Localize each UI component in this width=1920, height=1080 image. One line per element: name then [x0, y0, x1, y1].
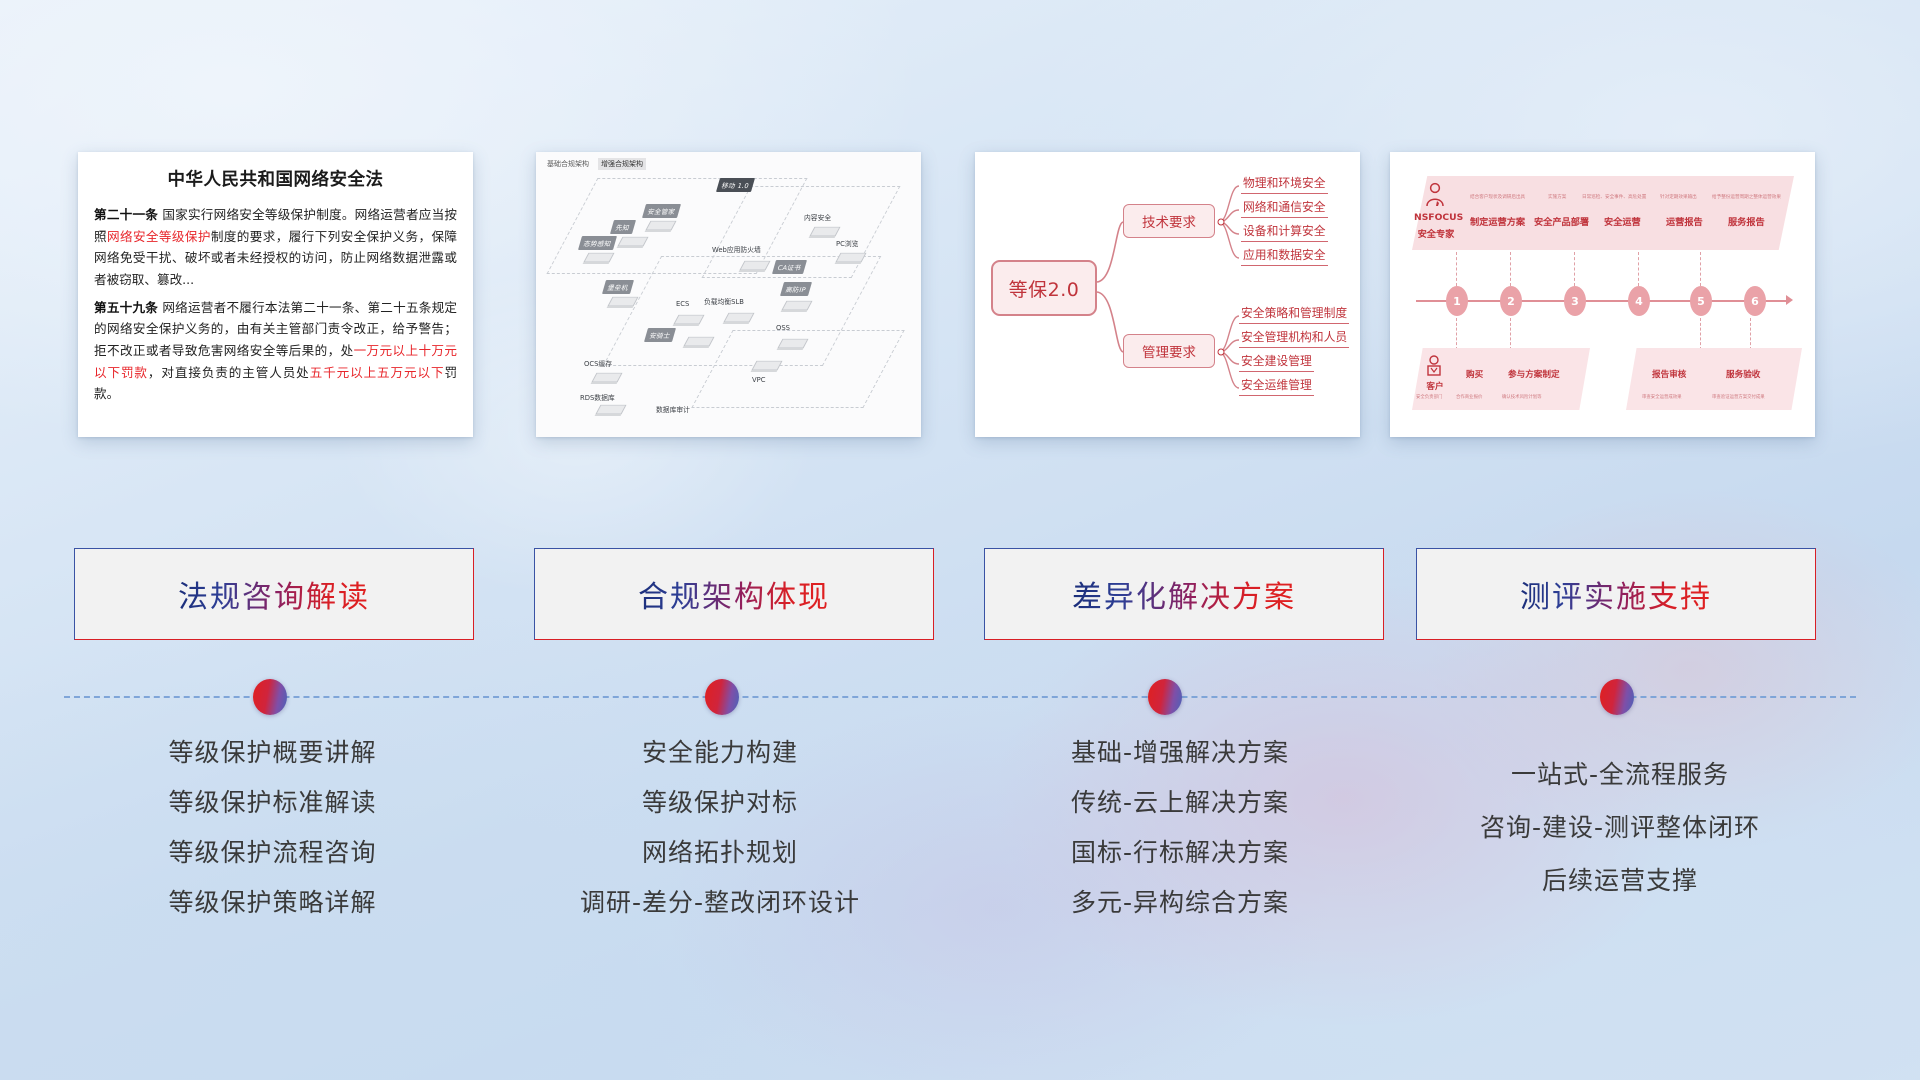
nsfocus-expert-banner	[1412, 176, 1794, 250]
mindmap-branch-management: 管理要求	[1123, 334, 1215, 368]
bottom-left-2-name: 参与方案制定	[1508, 368, 1560, 380]
step-5-name: 服务报告	[1728, 214, 1765, 228]
tick-1	[1456, 252, 1457, 286]
feature-list-column-2: 安全能力构建 等级保护对标 网络拓扑规划 调研-差分-整改闭环设计	[510, 740, 930, 940]
architecture-icon-bastion	[608, 297, 639, 306]
tick-4	[1638, 252, 1639, 286]
card-cybersecurity-law[interactable]: 中华人民共和国网络安全法 第二十一条 国家实行网络安全等级保护制度。网络运营者应…	[78, 152, 473, 437]
customer-sub: 安全负责部门	[1416, 394, 1442, 400]
architecture-node-bastion: 堡垒机	[602, 280, 634, 294]
timeline-node-4[interactable]: 4	[1628, 286, 1650, 316]
timeline-dashed-line	[64, 696, 1856, 698]
list-item: 咨询-建设-测评整体闭环	[1400, 815, 1840, 840]
architecture-icon-ecs	[674, 315, 705, 324]
architecture-node-mobile: 移动 1.0	[716, 178, 755, 192]
mindmap-leaf-device-compute: 设备和计算安全	[1241, 222, 1328, 242]
step-4-sub: 针对定期效果输出	[1660, 194, 1697, 200]
architecture-icon-vpc	[752, 361, 783, 370]
step-2-name: 安全产品部署	[1534, 214, 1589, 228]
step-2-sub: 实施方案	[1548, 194, 1566, 200]
feature-list-column-4: 一站式-全流程服务 咨询-建设-测评整体闭环 后续运营支撑	[1400, 762, 1840, 921]
timeline-axis	[1416, 300, 1788, 302]
expert-person-icon	[1424, 182, 1446, 208]
law-article-21-label: 第二十一条	[94, 207, 158, 222]
list-item: 等级保护标准解读	[70, 790, 475, 815]
list-item: 一站式-全流程服务	[1400, 762, 1840, 787]
title-label-1: 法规咨询解读	[178, 572, 370, 616]
architecture-icon-slb	[724, 313, 755, 322]
list-item: 等级保护概要讲解	[70, 740, 475, 765]
architecture-node-ca: CA证书	[772, 260, 807, 274]
architecture-node-xianzhi: 先知	[610, 220, 636, 234]
mindmap-leaf-app-data: 应用和数据安全	[1241, 246, 1328, 266]
law-title: 中华人民共和国网络安全法	[94, 166, 457, 191]
timeline-node-5[interactable]: 5	[1690, 286, 1712, 316]
timeline-node-3[interactable]: 3	[1564, 286, 1586, 316]
law-article-59-text-b: ，对直接负责的主管人员处	[148, 365, 310, 380]
timeline-marker-1[interactable]	[253, 679, 287, 715]
title-box-compliance-architecture[interactable]: 合规架构体现	[534, 548, 934, 640]
tick-3	[1574, 252, 1575, 286]
tick-2	[1510, 252, 1511, 286]
list-item: 后续运营支撑	[1400, 868, 1840, 893]
architecture-node-ocs: OCS缓存	[584, 358, 612, 368]
architecture-icon-antiddos	[782, 301, 813, 310]
tab-enhanced-architecture[interactable]: 增强合规架构	[598, 158, 646, 170]
step-3-name: 安全运营	[1604, 214, 1641, 228]
timeline-marker-4[interactable]	[1600, 679, 1634, 715]
architecture-icon-waf	[740, 261, 771, 270]
architecture-icon-security-butler	[646, 221, 677, 230]
list-item: 等级保护策略详解	[70, 890, 475, 915]
nsfocus-brand-line2: 安全专家	[1414, 226, 1458, 240]
architecture-node-vpc: VPC	[752, 376, 766, 384]
nsfocus-timeline: NSFOCUS 安全专家 结合客户现状及调研后出具 制定运营方案 实施方案 安全…	[1390, 152, 1815, 437]
mindmap-branch-technical: 技术要求	[1123, 204, 1215, 238]
mindmap-leaf-physical-env: 物理和环境安全	[1241, 174, 1328, 194]
timeline-marker-3[interactable]	[1148, 679, 1182, 715]
list-item: 传统-云上解决方案	[960, 790, 1400, 815]
customer-label: 客户	[1418, 380, 1452, 392]
card-dengbao-mindmap[interactable]: 等保2.0 技术要求 管理要求 物理和环境安全 网络和通信安全 设备和计算安全 …	[975, 152, 1360, 437]
architecture-node-content-security: 内容安全	[804, 212, 831, 222]
list-item: 等级保护对标	[510, 790, 930, 815]
title-label-3: 差异化解决方案	[1072, 572, 1296, 616]
timeline-node-6[interactable]: 6	[1744, 286, 1766, 316]
architecture-node-slb: 负载均衡SLB	[704, 296, 744, 306]
timeline-arrow-icon	[1786, 295, 1793, 305]
mindmap: 等保2.0 技术要求 管理要求 物理和环境安全 网络和通信安全 设备和计算安全 …	[975, 152, 1360, 437]
architecture-icon-situation	[584, 253, 615, 262]
title-label-2: 合规架构体现	[638, 572, 830, 616]
feature-list-column-3: 基础-增强解决方案 传统-云上解决方案 国标-行标解决方案 多元-异构综合方案	[960, 740, 1400, 940]
architecture-icon-content-security	[810, 227, 841, 236]
architecture-node-security-butler: 安全管家	[642, 204, 681, 218]
architecture-diagram: 基础合规架构 增强合规架构 移动 1.0 安全管家 先知 态势感知 堡垒机 EC…	[536, 152, 921, 437]
list-item: 基础-增强解决方案	[960, 740, 1400, 765]
timeline-marker-2[interactable]	[705, 679, 739, 715]
step-1-name: 制定运营方案	[1470, 214, 1525, 228]
bottom-left-1-sub: 合作商业报价	[1456, 394, 1482, 400]
architecture-icon-ocs	[592, 373, 623, 382]
architecture-node-oss: OSS	[776, 324, 790, 332]
title-box-evaluation-support[interactable]: 测评实施支持	[1416, 548, 1816, 640]
law-article-21-highlight: 网络安全等级保护	[107, 229, 211, 244]
architecture-icon-pc	[836, 253, 867, 262]
step-3-sub: 日常巡检、安全事件、高危处置	[1582, 194, 1646, 200]
title-box-differentiated-solution[interactable]: 差异化解决方案	[984, 548, 1384, 640]
timeline-node-2[interactable]: 2	[1500, 286, 1522, 316]
mindmap-leaf-policy-system: 安全策略和管理制度	[1239, 304, 1349, 324]
architecture-icon-xianzhi	[618, 237, 649, 246]
architecture-node-antiddos: 高防IP	[780, 282, 812, 296]
bottom-right-1-sub: 审查安全运营成效果	[1642, 394, 1682, 400]
tick-down-2	[1510, 318, 1511, 350]
law-article-59-highlight-2: 五千元以上五万元以下	[310, 365, 445, 380]
mindmap-leaf-network-comm: 网络和通信安全	[1241, 198, 1328, 218]
step-5-sub: 给予整份运营周期之整体运营效果	[1712, 194, 1781, 200]
tick-down-6	[1750, 318, 1751, 350]
bottom-left-2-sub: 确认技术风险计划等	[1502, 394, 1542, 400]
architecture-node-ecs: ECS	[676, 300, 689, 308]
bottom-right-2-sub: 审查验证运营方案交付成果	[1712, 394, 1765, 400]
feature-list-column-1: 等级保护概要讲解 等级保护标准解读 等级保护流程咨询 等级保护策略详解	[70, 740, 475, 940]
list-item: 多元-异构综合方案	[960, 890, 1400, 915]
law-article-59-label: 第五十九条	[94, 300, 158, 315]
step-1-sub: 结合客户现状及调研后出具	[1470, 194, 1525, 200]
architecture-node-anqishi: 安骑士	[644, 328, 676, 342]
title-box-regulation-consulting[interactable]: 法规咨询解读	[74, 548, 474, 640]
tick-5	[1700, 252, 1701, 286]
list-item: 国标-行标解决方案	[960, 840, 1400, 865]
bottom-left-1-name: 购买	[1466, 368, 1483, 380]
mindmap-leaf-construction-mgmt: 安全建设管理	[1239, 352, 1314, 372]
mindmap-leaf-org-personnel: 安全管理机构和人员	[1239, 328, 1349, 348]
law-document: 中华人民共和国网络安全法 第二十一条 国家实行网络安全等级保护制度。网络运营者应…	[78, 152, 473, 415]
card-nsfocus-service-timeline[interactable]: NSFOCUS 安全专家 结合客户现状及调研后出具 制定运营方案 实施方案 安全…	[1390, 152, 1815, 437]
bottom-right-1-name: 报告审核	[1652, 368, 1686, 380]
architecture-icon-oss	[778, 339, 809, 348]
list-item: 等级保护流程咨询	[70, 840, 475, 865]
slide-stage: 中华人民共和国网络安全法 第二十一条 国家实行网络安全等级保护制度。网络运营者应…	[0, 0, 1920, 1080]
timeline-node-1[interactable]: 1	[1446, 286, 1468, 316]
image-card-row: 中华人民共和国网络安全法 第二十一条 国家实行网络安全等级保护制度。网络运营者应…	[0, 152, 1920, 442]
law-paragraph-21: 第二十一条 国家实行网络安全等级保护制度。网络运营者应当按照网络安全等级保护制度…	[94, 204, 457, 291]
architecture-node-rds: RDS数据库	[580, 392, 615, 402]
tick-down-1	[1456, 318, 1457, 350]
mindmap-root: 等保2.0	[991, 260, 1097, 316]
law-paragraph-59: 第五十九条 网络运营者不履行本法第二十一条、第二十五条规定的网络安全保护义务的，…	[94, 297, 457, 405]
title-label-4: 测评实施支持	[1520, 572, 1712, 616]
bottom-right-2-name: 服务验收	[1726, 368, 1760, 380]
architecture-node-db-audit: 数据库审计	[656, 404, 690, 414]
step-4-name: 运营报告	[1666, 214, 1703, 228]
list-item: 网络拓扑规划	[510, 840, 930, 865]
architecture-node-waf: Web应用防火墙	[712, 244, 761, 254]
nsfocus-brand-line1: NSFOCUS	[1414, 212, 1458, 223]
list-item: 调研-差分-整改闭环设计	[510, 890, 930, 915]
architecture-icon-rds	[596, 405, 627, 414]
architecture-icon-anqishi	[684, 337, 715, 346]
mindmap-leaf-ops-mgmt: 安全运维管理	[1239, 376, 1314, 396]
tab-basic-architecture[interactable]: 基础合规架构	[544, 158, 592, 170]
tick-down-5	[1700, 318, 1701, 350]
customer-person-icon	[1424, 354, 1444, 378]
list-item: 安全能力构建	[510, 740, 930, 765]
architecture-node-situation: 态势感知	[578, 236, 617, 250]
architecture-node-pc: PC浏览	[836, 238, 858, 248]
card-compliance-architecture[interactable]: 基础合规架构 增强合规架构 移动 1.0 安全管家 先知 态势感知 堡垒机 EC…	[536, 152, 921, 437]
architecture-tabs: 基础合规架构 增强合规架构	[544, 158, 646, 170]
